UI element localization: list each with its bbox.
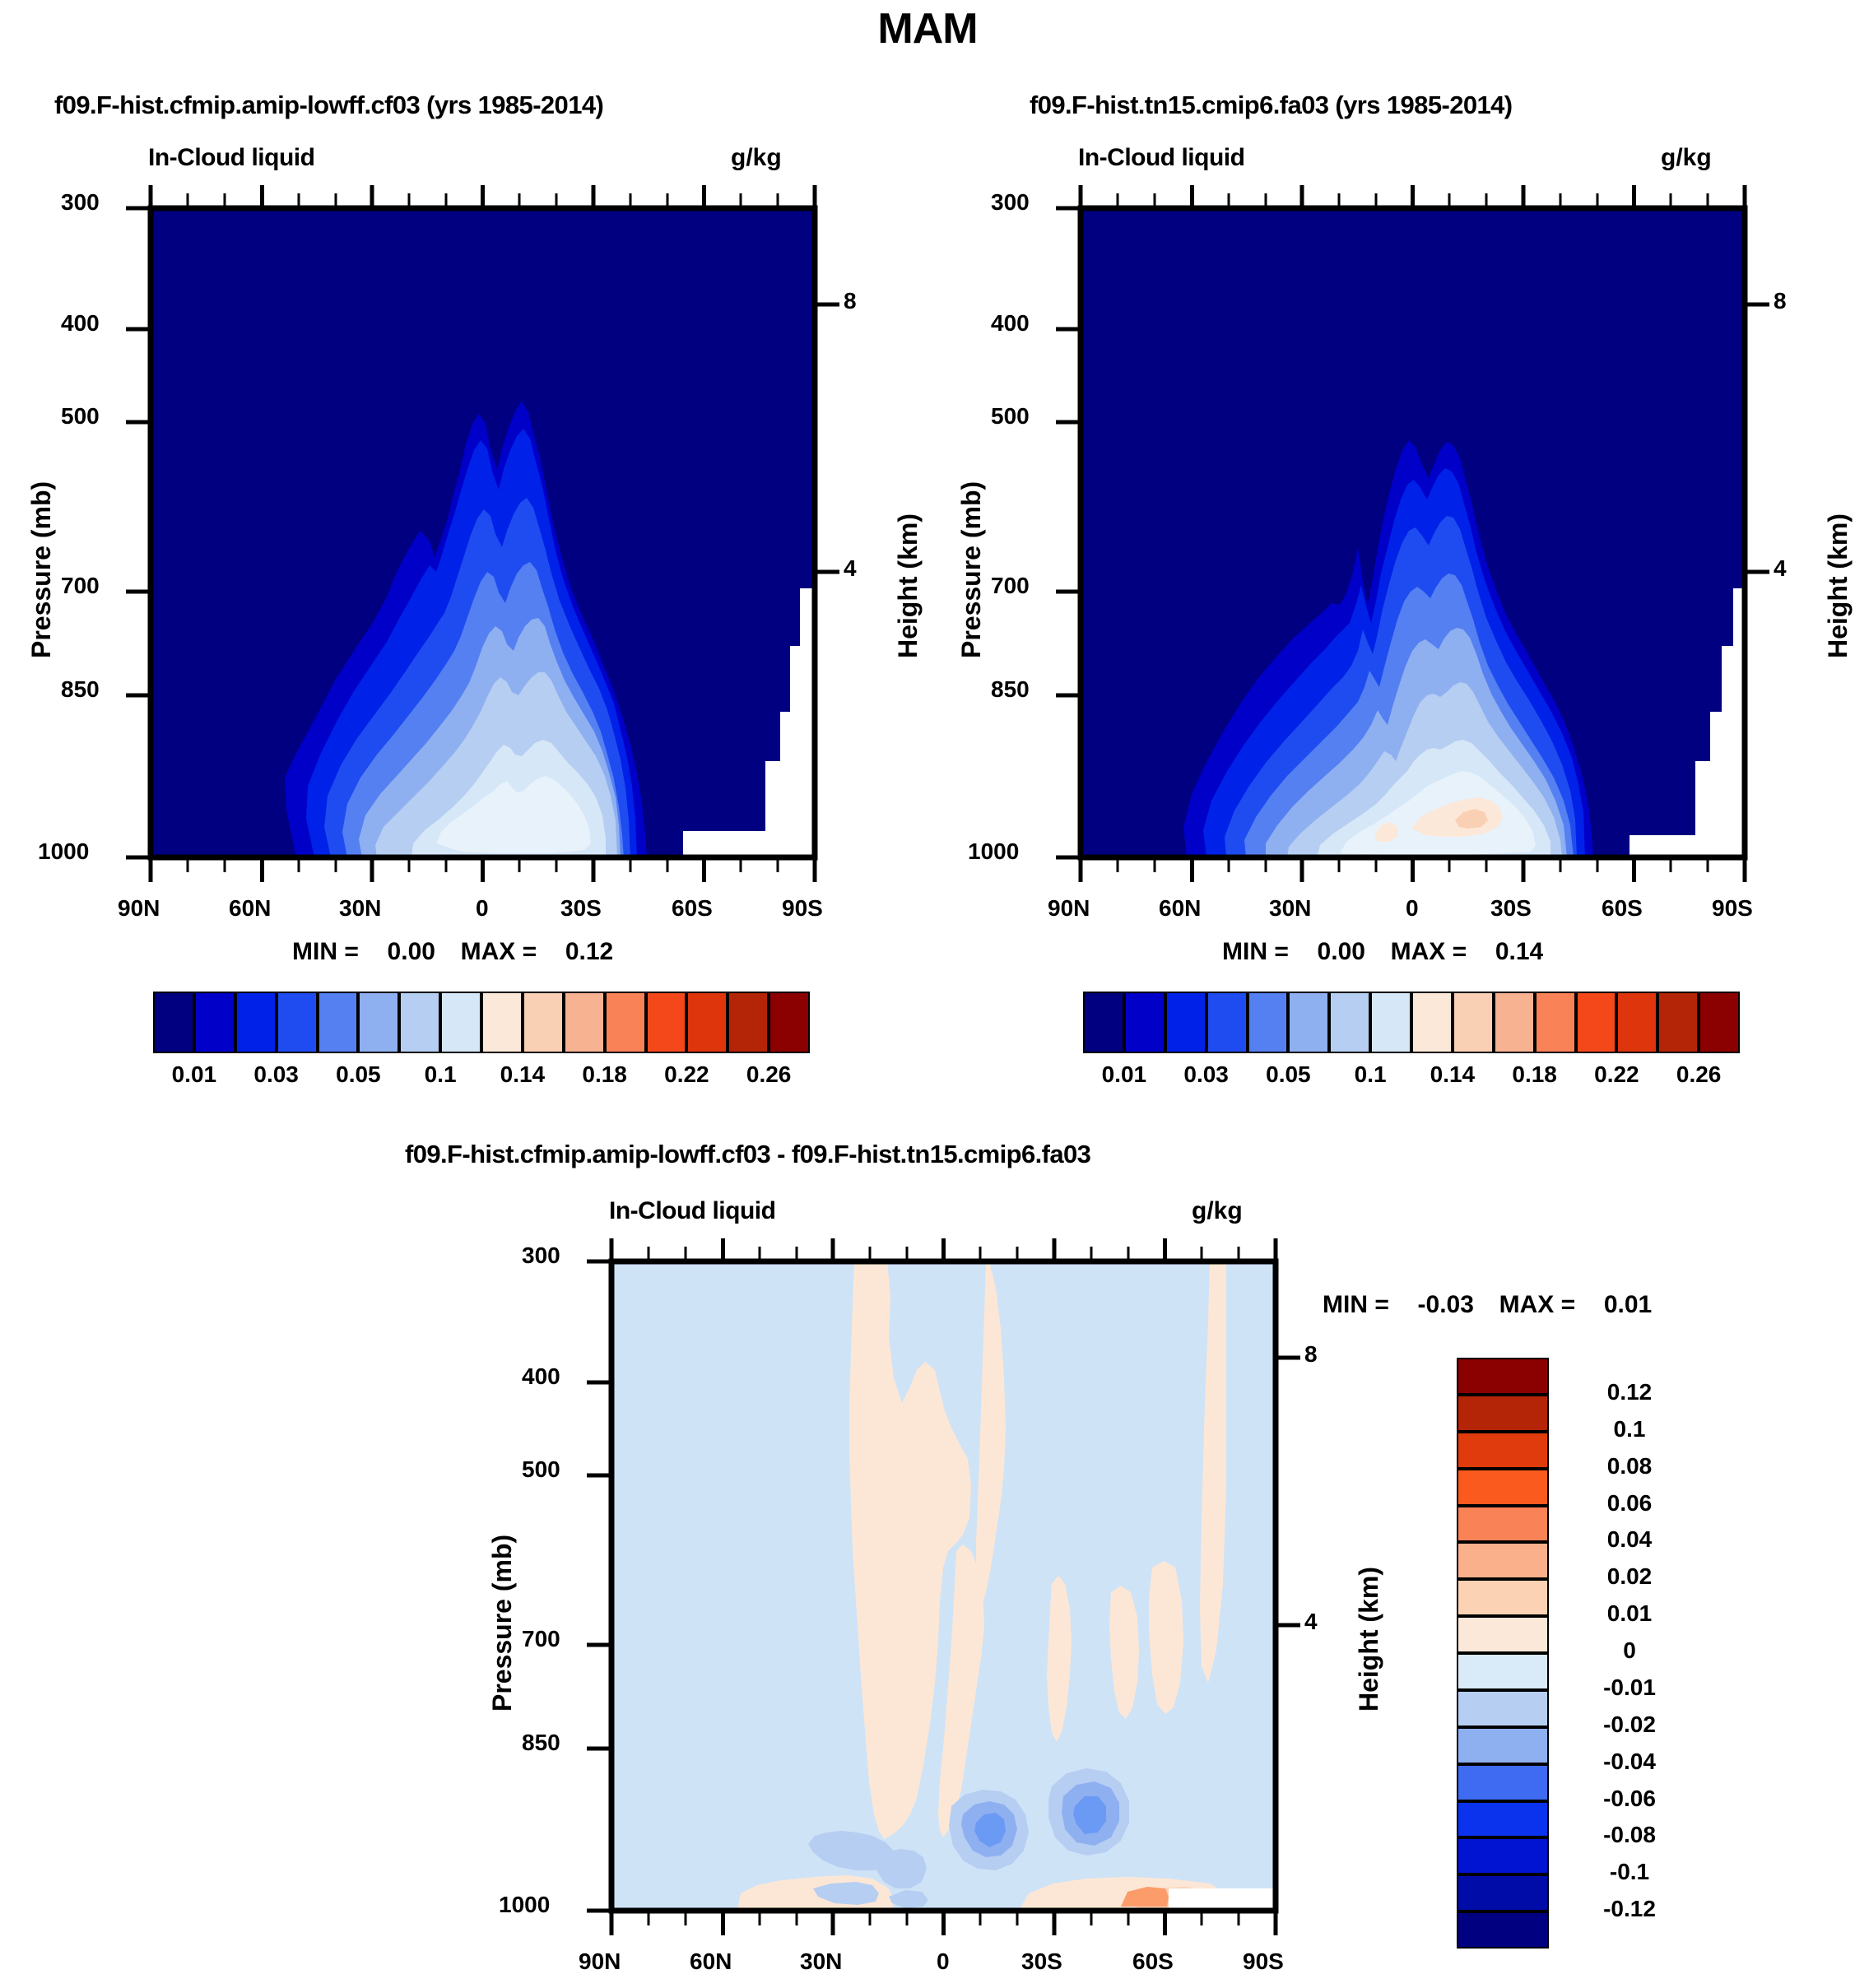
max-label-top-left: MAX = [461,938,537,965]
max-label-bottom: MAX = [1499,1291,1576,1318]
pressure-axis-label-bottom: Pressure (mb) [487,1535,518,1712]
lat-tick-30N-right: 30N [1269,895,1311,922]
height-tick-4-left: 4 [844,555,857,582]
colorbar-absolute-left[interactable] [153,992,810,1053]
height-tick-4-bottom: 4 [1304,1609,1318,1635]
min-label-top-right: MIN = [1222,938,1289,965]
pressure-axis-label-right: Pressure (mb) [956,481,987,658]
colorbar-tick-label: 0.18 [582,1061,627,1088]
colorbar-cell[interactable] [1457,1837,1549,1874]
pressure-tick-300-left: 300 [61,189,100,216]
pressure-tick-300-bottom: 300 [522,1242,560,1269]
pressure-tick-700-right: 700 [991,573,1030,599]
pressure-tick-850-bottom: 850 [522,1730,560,1756]
colorbar-cell[interactable] [605,992,646,1053]
colorbar-cell[interactable] [481,992,523,1053]
minmax-label-top-left: MIN = 0.00 MAX = 0.12 [292,938,613,966]
colorbar-tick-label: 0.03 [1183,1061,1229,1088]
colorbar-cell[interactable] [1457,1506,1549,1543]
lat-tick-60S-left: 60S [672,895,713,922]
colorbar-labels-difference: 0.120.10.080.060.040.020.010-0.01-0.02-0… [1564,1358,1712,1949]
lat-tick-60S-bottom: 60S [1132,1949,1174,1975]
colorbar-labels-absolute-left: 0.010.030.050.10.140.180.220.26 [153,1061,810,1094]
colorbar-tick-label: 0.05 [1266,1061,1311,1088]
colorbar-tick-label: -0.12 [1564,1896,1695,1922]
colorbar-tick-label: 0.18 [1512,1061,1557,1088]
pressure-tick-400-bottom: 400 [522,1363,560,1390]
colorbar-cell[interactable] [1657,992,1699,1053]
colorbar-cell[interactable] [1206,992,1248,1053]
lat-tick-0-right: 0 [1406,895,1419,922]
colorbar-cell[interactable] [1457,1579,1549,1616]
unit-label-top-left: g/kg [731,144,782,172]
max-label-top-right: MAX = [1391,938,1467,965]
contour-plot-top-left [25,185,848,893]
variable-label-top-left: In-Cloud liquid [148,144,314,172]
unit-label-bottom: g/kg [1192,1197,1243,1225]
panel-title-top-right: f09.F-hist.tn15.cmip6.fa03 (yrs 1985-201… [1030,91,1512,120]
colorbar-tick-label: 0.14 [1430,1061,1476,1088]
minmax-label-bottom: MIN = -0.03 MAX = 0.01 [1323,1291,1652,1319]
colorbar-absolute-right[interactable] [1083,992,1740,1053]
colorbar-cell[interactable] [277,992,318,1053]
panel-title-top-left: f09.F-hist.cfmip.amip-lowff.cf03 (yrs 19… [54,91,603,120]
height-tick-8-left: 8 [844,288,857,314]
height-axis-label-left: Height (km) [893,513,923,658]
colorbar-cell[interactable] [1124,992,1165,1053]
variable-label-top-right: In-Cloud liquid [1078,144,1244,172]
colorbar-tick-label: 0.1 [1564,1416,1695,1442]
colorbar-cell[interactable] [1453,992,1494,1053]
colorbar-cell[interactable] [1457,1690,1549,1727]
colorbar-cell[interactable] [728,992,769,1053]
height-axis-label-right: Height (km) [1823,513,1853,658]
pressure-tick-1000-left: 1000 [38,838,89,865]
pressure-tick-850-left: 850 [61,676,100,703]
min-value-top-left: 0.00 [388,938,435,965]
colorbar-cell[interactable] [1329,992,1370,1053]
colorbar-cell[interactable] [235,992,277,1053]
pressure-tick-400-right: 400 [991,310,1030,337]
height-tick-8-right: 8 [1774,288,1787,314]
lat-tick-60N-bottom: 60N [690,1949,732,1975]
pressure-tick-500-left: 500 [61,403,100,430]
colorbar-tick-label: 0.26 [746,1061,792,1088]
min-value-bottom: -0.03 [1418,1291,1474,1318]
pressure-tick-300-right: 300 [991,189,1030,216]
colorbar-cell[interactable] [1083,992,1124,1053]
colorbar-cell[interactable] [1616,992,1657,1053]
colorbar-tick-label: 0.1 [425,1061,457,1088]
colorbar-cell[interactable] [769,992,810,1053]
pressure-tick-500-bottom: 500 [522,1456,560,1483]
pressure-tick-700-left: 700 [61,573,100,599]
colorbar-cell[interactable] [1457,1358,1549,1395]
colorbar-cell[interactable] [1457,1469,1549,1506]
colorbar-tick-label: -0.1 [1564,1859,1695,1885]
min-value-top-right: 0.00 [1318,938,1365,965]
lat-tick-60N-left: 60N [229,895,271,922]
colorbar-cell[interactable] [1699,992,1740,1053]
unit-label-top-right: g/kg [1661,144,1712,172]
figure-main-title: MAM [0,4,1855,53]
colorbar-tick-label: 0.26 [1676,1061,1722,1088]
colorbar-tick-label: 0.01 [1102,1061,1147,1088]
contour-plot-bottom-diff [486,1238,1309,1946]
colorbar-cell[interactable] [564,992,605,1053]
max-value-top-right: 0.14 [1495,938,1543,965]
max-value-top-left: 0.12 [565,938,613,965]
colorbar-cell[interactable] [1165,992,1206,1053]
lat-tick-0-left: 0 [476,895,489,922]
minmax-label-top-right: MIN = 0.00 MAX = 0.14 [1222,938,1543,966]
colorbar-cell[interactable] [523,992,564,1053]
colorbar-tick-label: 0.14 [500,1061,546,1088]
colorbar-cell[interactable] [1248,992,1289,1053]
colorbar-tick-label: 0.01 [172,1061,217,1088]
lat-tick-0-bottom: 0 [937,1949,950,1975]
lat-tick-30S-left: 30S [560,895,602,922]
colorbar-cell[interactable] [1457,1542,1549,1579]
colorbar-cell[interactable] [1457,1764,1549,1801]
lat-tick-30N-left: 30N [339,895,381,922]
lat-tick-60S-right: 60S [1602,895,1643,922]
pressure-tick-850-right: 850 [991,676,1030,703]
lat-tick-60N-right: 60N [1159,895,1201,922]
colorbar-cell[interactable] [440,992,481,1053]
contour-plot-top-right [955,185,1778,893]
colorbar-cell[interactable] [1457,1616,1549,1653]
colorbar-tick-label: 0.1 [1355,1061,1387,1088]
pressure-tick-500-right: 500 [991,403,1030,430]
colorbar-tick-label: 0.05 [336,1061,381,1088]
panel-title-bottom: f09.F-hist.cfmip.amip-lowff.cf03 - f09.F… [405,1140,1090,1169]
max-value-bottom: 0.01 [1604,1291,1652,1318]
colorbar-cell[interactable] [686,992,728,1053]
pressure-tick-1000-bottom: 1000 [499,1892,550,1918]
colorbar-cell[interactable] [1494,992,1535,1053]
pressure-tick-400-left: 400 [61,310,100,337]
pressure-tick-700-bottom: 700 [522,1626,560,1652]
colorbar-tick-label: -0.06 [1564,1785,1695,1811]
figure-root: MAM f09.F-hist.cfmip.amip-lowff.cf03 (yr… [0,0,1855,1988]
colorbar-tick-label: 0.12 [1564,1379,1695,1405]
colorbar-cell[interactable] [1457,1801,1549,1838]
colorbar-cell[interactable] [358,992,399,1053]
lat-tick-30N-bottom: 30N [800,1949,842,1975]
lat-tick-30S-right: 30S [1490,895,1532,922]
height-axis-label-bottom: Height (km) [1354,1567,1384,1712]
colorbar-cell[interactable] [646,992,687,1053]
lat-tick-90S-bottom: 90S [1243,1949,1284,1975]
colorbar-tick-label: -0.04 [1564,1748,1695,1774]
lat-tick-90N-bottom: 90N [579,1949,621,1975]
colorbar-cell[interactable] [1457,1653,1549,1690]
pressure-tick-1000-right: 1000 [968,838,1019,865]
colorbar-tick-label: 0.01 [1564,1600,1695,1627]
colorbar-cell[interactable] [1457,1727,1549,1764]
colorbar-tick-label: -0.01 [1564,1674,1695,1701]
height-tick-8-bottom: 8 [1304,1341,1318,1368]
colorbar-tick-label: 0.22 [1594,1061,1639,1088]
lat-tick-90N-left: 90N [118,895,160,922]
colorbar-tick-label: 0.08 [1564,1452,1695,1479]
colorbar-cell[interactable] [1288,992,1329,1053]
colorbar-tick-label: 0.06 [1564,1489,1695,1516]
colorbar-tick-label: 0.22 [664,1061,709,1088]
min-label-top-left: MIN = [292,938,359,965]
colorbar-tick-label: 0.02 [1564,1563,1695,1590]
lat-tick-90N-right: 90N [1048,895,1090,922]
variable-label-bottom: In-Cloud liquid [609,1197,775,1225]
colorbar-labels-absolute-right: 0.010.030.050.10.140.180.220.26 [1083,1061,1740,1094]
colorbar-cell[interactable] [1457,1911,1549,1949]
colorbar-cell[interactable] [1457,1874,1549,1911]
colorbar-cell[interactable] [1370,992,1411,1053]
colorbar-cell[interactable] [1411,992,1453,1053]
lat-tick-90S-right: 90S [1712,895,1753,922]
lat-tick-90S-left: 90S [782,895,823,922]
colorbar-cell[interactable] [1457,1395,1549,1432]
colorbar-cell[interactable] [1535,992,1576,1053]
colorbar-cell[interactable] [194,992,235,1053]
colorbar-cell[interactable] [1576,992,1617,1053]
height-tick-4-right: 4 [1774,555,1787,582]
colorbar-difference[interactable] [1457,1358,1549,1949]
min-label-bottom: MIN = [1323,1291,1389,1318]
colorbar-tick-label: 0 [1564,1637,1695,1664]
colorbar-tick-label: 0.03 [253,1061,299,1088]
colorbar-tick-label: -0.02 [1564,1712,1695,1738]
colorbar-tick-label: 0.04 [1564,1526,1695,1553]
colorbar-cell[interactable] [1457,1432,1549,1469]
colorbar-cell[interactable] [153,992,194,1053]
colorbar-cell[interactable] [399,992,440,1053]
colorbar-tick-label: -0.08 [1564,1822,1695,1848]
lat-tick-30S-bottom: 30S [1021,1949,1062,1975]
pressure-axis-label-left: Pressure (mb) [26,481,57,658]
colorbar-cell[interactable] [318,992,359,1053]
